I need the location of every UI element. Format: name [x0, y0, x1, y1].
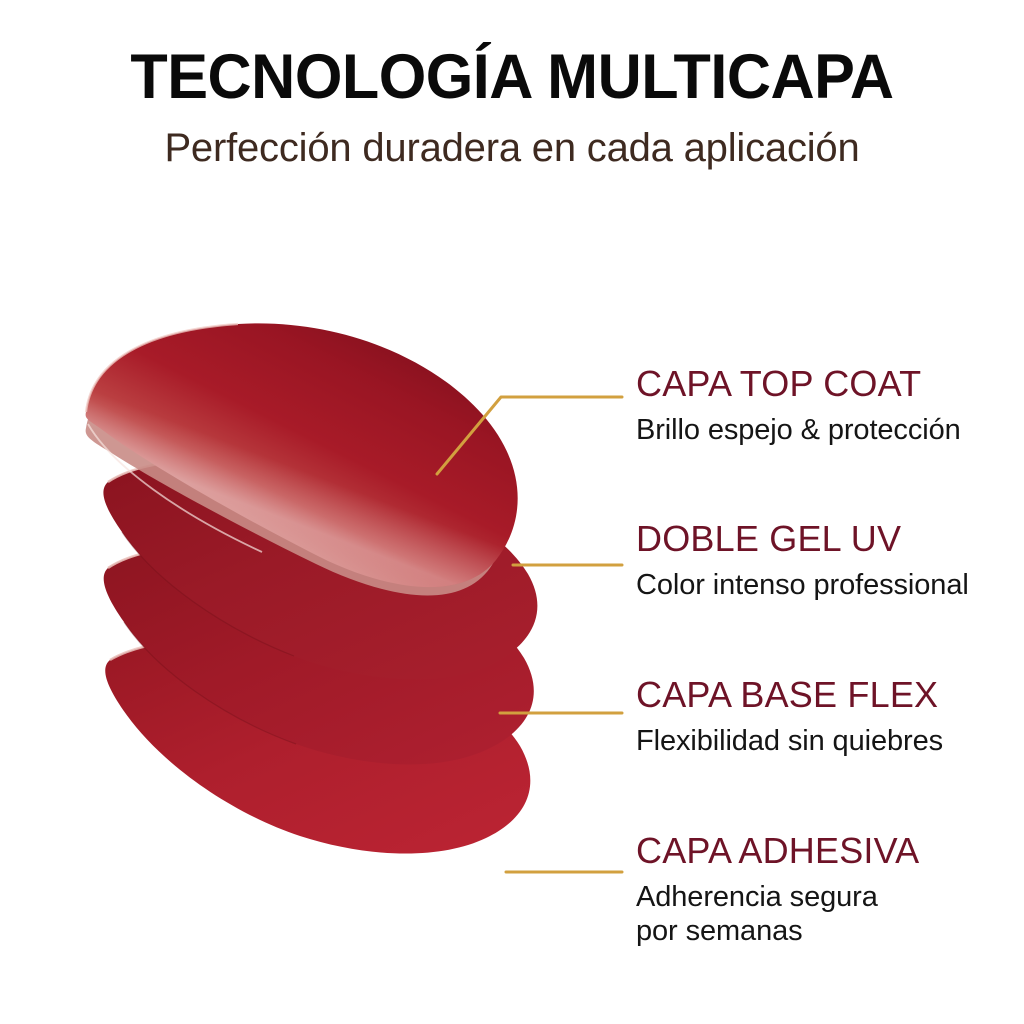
- callout-desc-capa-base-flex: Flexibilidad sin quiebres: [636, 713, 1006, 758]
- callout-desc-capa-adhesiva: Adherencia segura por semanas: [636, 869, 1006, 948]
- callout-capa-adhesiva: CAPA ADHESIVA Adherencia segura por sema…: [636, 833, 1006, 948]
- callout-desc-capa-top-coat: Brillo espejo & protección: [636, 402, 1006, 447]
- infographic-canvas: TECNOLOGÍA MULTICAPA Perfección duradera…: [0, 0, 1024, 1024]
- callout-title-capa-top-coat: CAPA TOP COAT: [636, 366, 1006, 402]
- callout-desc-doble-gel-uv: Color intenso professional: [636, 557, 1006, 602]
- callout-capa-top-coat: CAPA TOP COAT Brillo espejo & protección: [636, 366, 1006, 447]
- callout-title-doble-gel-uv: DOBLE GEL UV: [636, 521, 1006, 557]
- callout-capa-base-flex: CAPA BASE FLEX Flexibilidad sin quiebres: [636, 677, 1006, 758]
- callout-title-capa-adhesiva: CAPA ADHESIVA: [636, 833, 1006, 869]
- callout-doble-gel-uv: DOBLE GEL UV Color intenso professional: [636, 521, 1006, 602]
- callout-title-capa-base-flex: CAPA BASE FLEX: [636, 677, 1006, 713]
